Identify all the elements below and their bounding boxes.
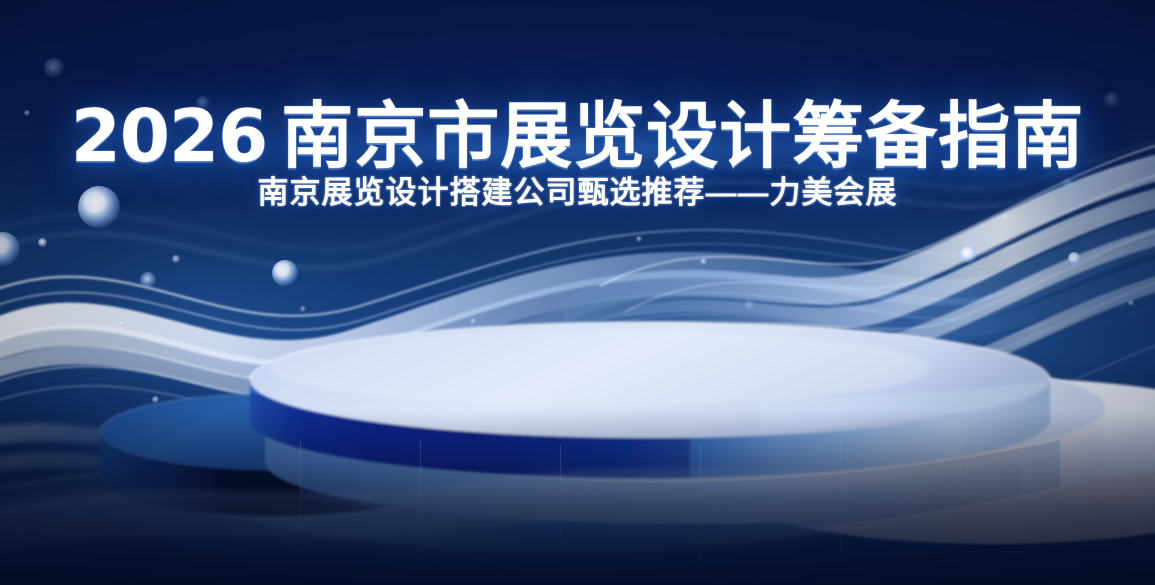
page-subtitle: 南京展览设计搭建公司甄选推荐——力美会展 [258,167,898,212]
promo-banner: 2026南京市展览设计筹备指南 2026南京市展览设计筹备指南 南京展览设计搭建… [0,0,1155,585]
page-title: 2026南京市展览设计筹备指南 [71,100,1084,173]
bottom-fade-overlay [0,410,1155,585]
subtitle-container: 南京展览设计搭建公司甄选推荐——力美会展 [0,167,1155,212]
headline-year: 2026 [71,94,267,178]
headline-main: 南京市展览设计筹备指南 [281,97,1084,177]
